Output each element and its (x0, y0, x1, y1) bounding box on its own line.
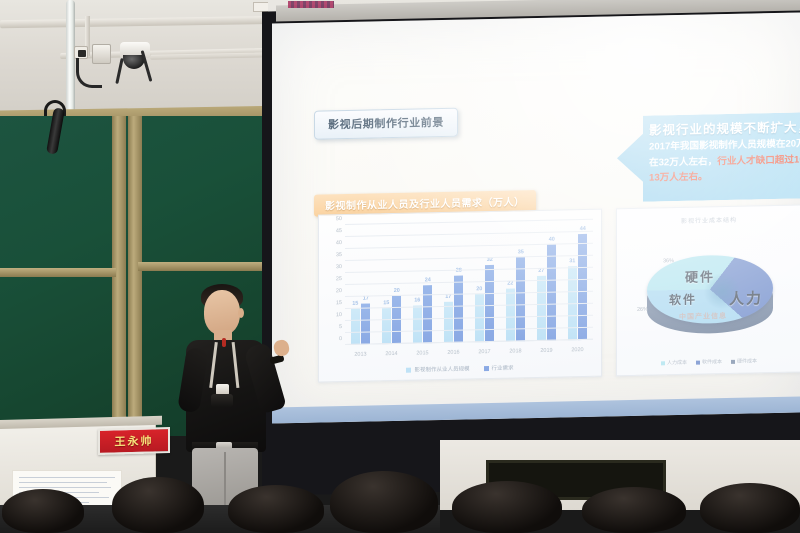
text-line (19, 482, 107, 483)
legend-item: 行业需求 (484, 363, 514, 372)
x-axis-tick-label: 2013 (354, 352, 366, 358)
y-axis-tick-label: 5 (339, 324, 342, 330)
x-axis-labels: 20132014201520162017201820192020 (345, 344, 593, 361)
bar-value-label: 17 (445, 294, 451, 300)
presenter-hand (273, 339, 291, 358)
y-axis-tick-label: 35 (336, 252, 342, 258)
projector-vendor-logo (288, 1, 334, 8)
legend-label: 软件成本 (702, 358, 722, 365)
callout-line-2-pre: 在32万人左右， (649, 156, 717, 168)
pie-chart-graphic: 硬件 软件 人力 36% 26% 中国产业信息 (633, 232, 787, 347)
audience-head (452, 481, 562, 533)
x-axis-tick-label: 2018 (509, 348, 521, 354)
pie-watermark-text: 中国产业信息 (679, 311, 727, 322)
y-axis-tick-label: 15 (336, 300, 342, 306)
lapel-microphone-icon (222, 338, 226, 347)
audience-head (330, 471, 438, 533)
presenter-head (204, 290, 240, 335)
bar-value-label: 20 (394, 288, 400, 294)
pie-label-hardware: 硬件 (685, 266, 715, 286)
x-axis-tick-label: 2019 (540, 348, 552, 354)
x-axis-tick-label: 2014 (385, 351, 397, 357)
bar: 15 (382, 308, 391, 344)
bar: 17 (361, 304, 370, 345)
bar-value-label: 16 (414, 297, 420, 303)
pie-percent-2: 26% (637, 307, 648, 313)
presenter-ear (238, 308, 244, 318)
fluorescent-tube-icon (66, 0, 75, 120)
legend-swatch (484, 365, 489, 370)
bar-value-label: 22 (507, 281, 513, 287)
legend-label: 人力成本 (667, 359, 687, 366)
bar: 32 (485, 265, 494, 342)
legend-swatch (731, 359, 735, 363)
pie-label-software: 软件 (669, 291, 697, 309)
presenter (178, 282, 298, 512)
y-axis-tick-label: 40 (336, 240, 342, 246)
legend-item: 影视制作从业人员规模 (406, 364, 469, 373)
x-axis-tick-label: 2020 (571, 347, 583, 353)
callout-line-3: 13万人左右。 (649, 166, 800, 185)
y-axis-tick-label: 0 (339, 336, 342, 342)
y-axis-tick-label: 45 (336, 228, 342, 234)
y-axis-tick-label: 30 (336, 264, 342, 270)
audience-head (582, 487, 686, 533)
legend-item: 人力成本 (661, 359, 687, 367)
x-axis-tick-label: 2016 (447, 350, 459, 356)
bar: 44 (578, 234, 587, 340)
bar: 15 (351, 309, 360, 345)
legend-label: 行业需求 (492, 363, 514, 371)
bar-value-label: 32 (487, 257, 493, 263)
text-line (19, 487, 111, 488)
bar-value-label: 20 (476, 286, 482, 292)
x-axis-tick-label: 2015 (416, 350, 428, 356)
audience-head (700, 483, 800, 533)
y-axis-tick-label: 50 (336, 216, 342, 222)
legend-swatch (406, 367, 411, 372)
bar-value-label: 15 (383, 300, 389, 306)
callout-heading: 影视行业的规模不断扩大，也带来了影视制作 (649, 117, 800, 138)
legend-item: 硬件成本 (731, 357, 757, 365)
y-axis-tick-label: 25 (336, 276, 342, 282)
bar-value-label: 40 (549, 237, 555, 243)
audience-head (112, 477, 204, 533)
audience-head (228, 485, 324, 533)
blackboard-frame (128, 116, 142, 436)
cable-loop (76, 58, 102, 88)
pie-percent-1: 36% (663, 258, 674, 264)
bar: 27 (537, 276, 546, 341)
name-placard-text: 王永帅 (115, 432, 154, 449)
legend-swatch (661, 361, 665, 365)
presentation-clicker-icon (211, 394, 233, 407)
bar-chart-legend: 影视制作从业人员规模行业需求 (319, 359, 601, 379)
x-axis-tick-label: 2017 (478, 349, 490, 355)
legend-swatch (696, 360, 700, 364)
blackboard-frame (0, 268, 116, 277)
legend-label: 硬件成本 (737, 357, 757, 364)
pie-chart-title: 影视行业成本结构 (617, 213, 800, 226)
pie-chart-panel: 影视行业成本结构 硬件 软件 人力 36% 26% 中国产业信息 人力成本软件成… (616, 204, 800, 376)
presentation-slide: 影视后期制作行业前景 影视行业的规模不断扩大，也带来了影视制作 2017年我国影… (272, 12, 800, 423)
bar-chart-plot-area: 15171520162417282032223527403144 0510152… (345, 220, 593, 345)
callout-line-2: 在32万人左右，行业人才缺口超过10万人；预计2020年，行 (649, 151, 800, 170)
bar-chart-panel: 15171520162417282032223527403144 0510152… (318, 209, 602, 383)
bar: 17 (444, 302, 453, 343)
bar-value-label: 35 (518, 249, 524, 255)
audience-head (2, 489, 84, 533)
projection-screen: 影视后期制作行业前景 影视行业的规模不断扩大，也带来了影视制作 2017年我国影… (272, 12, 800, 423)
callout-highlight: 行业人才缺口超过10万人 (717, 153, 800, 166)
bar: 16 (413, 305, 422, 344)
bar-value-label: 31 (569, 258, 575, 264)
legend-label: 影视制作从业人员规模 (414, 364, 469, 373)
bar-value-label: 15 (352, 301, 358, 307)
y-axis-tick-label: 20 (336, 288, 342, 294)
classroom-scene: 影视后期制作行业前景 影视行业的规模不断扩大，也带来了影视制作 2017年我国影… (0, 0, 800, 533)
bar: 22 (506, 289, 515, 342)
pie-chart-legend: 人力成本软件成本硬件成本 (617, 356, 800, 367)
name-placard: 王永帅 (98, 427, 170, 455)
y-axis-tick-label: 10 (336, 312, 342, 318)
slide-section-tab: 影视后期制作行业前景 (314, 108, 458, 140)
legend-item: 软件成本 (696, 358, 722, 366)
callout-line-1: 2017年我国影视制作人员规模在20万人左右，保守估计影视 (649, 135, 800, 154)
bar-value-label: 27 (538, 268, 544, 274)
pie-label-labor: 人力 (729, 287, 763, 309)
callout-box: 影视行业的规模不断扩大，也带来了影视制作 2017年我国影视制作人员规模在20万… (617, 110, 800, 202)
bar: 28 (454, 275, 463, 342)
text-line (19, 477, 115, 478)
